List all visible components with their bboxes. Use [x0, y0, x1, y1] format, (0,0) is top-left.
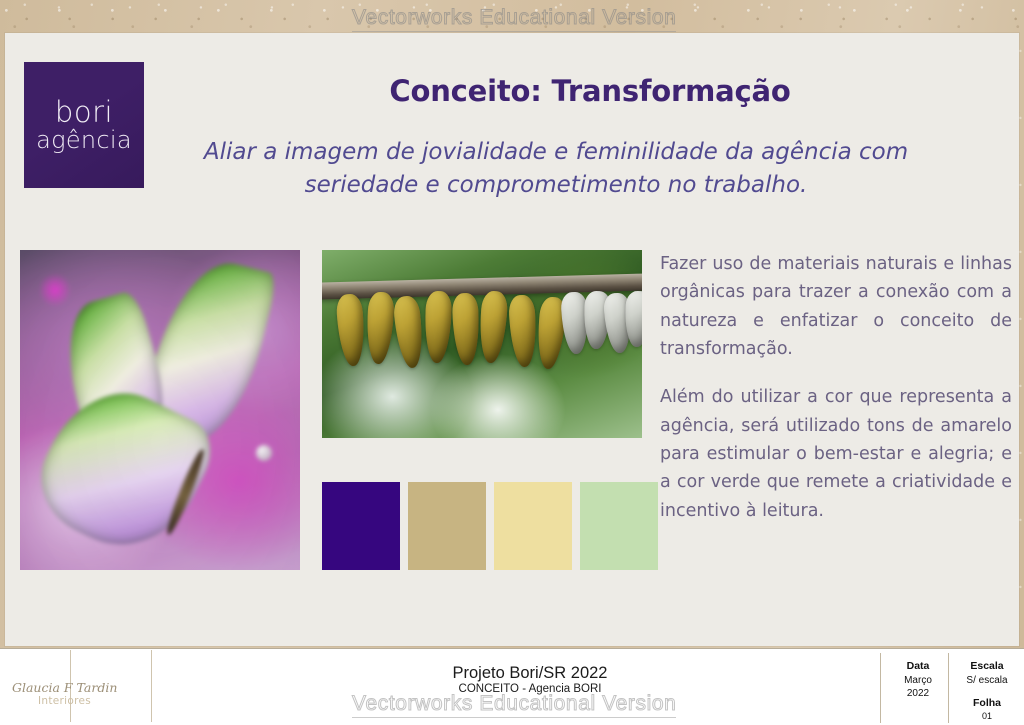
color-swatch-verde-claro: [580, 482, 658, 570]
escala-value: S/ escala: [956, 675, 1018, 688]
chrysalis: [424, 291, 452, 364]
chrysalis-photo: [322, 250, 642, 438]
chrysalis: [508, 294, 538, 367]
chrysalis: [365, 291, 395, 364]
watermark-bottom: Vectorworks Educational Version: [352, 692, 676, 718]
folha-label: Folha: [956, 697, 1018, 709]
escala-label: Escala: [956, 660, 1018, 672]
chrysalis: [478, 290, 509, 364]
data-label: Data: [890, 660, 946, 672]
page-subtitle: Aliar a imagem de jovialidade e feminili…: [150, 136, 962, 203]
chrysalis: [452, 293, 480, 366]
color-swatch-bege-natural: [408, 482, 486, 570]
folha-value: 01: [956, 711, 1018, 721]
titleblock-divider: [880, 653, 881, 723]
page-title: Conceito: Transformação: [180, 74, 1000, 108]
chrysalis: [336, 293, 367, 367]
meta-escala-column: Escala S/ escala Folha 01: [956, 660, 1018, 721]
logo-wordmark: bori: [55, 98, 113, 127]
signature-name: Glaucia F Tardin: [12, 680, 117, 695]
color-palette: [322, 482, 658, 570]
signature-role: Interiores: [38, 695, 91, 707]
concept-paragraph-1: Fazer uso de materiais naturais e linhas…: [660, 250, 1012, 363]
watermark-top: Vectorworks Educational Version: [352, 6, 676, 32]
chrysalis: [392, 295, 425, 369]
concept-paragraph-2: Além do utilizar a cor que representa a …: [660, 383, 1012, 525]
sheet-top-edge: [5, 33, 1019, 49]
butterfly-photo: [20, 250, 300, 570]
titleblock-divider: [948, 653, 949, 723]
color-swatch-roxo-bori: [322, 482, 400, 570]
bori-agencia-logo: bori agência: [24, 62, 144, 188]
logo-subtitle: agência: [36, 128, 132, 152]
meta-data-column: Data Março 2022: [890, 660, 946, 700]
project-title: Projeto Bori/SR 2022: [180, 664, 880, 683]
flower-bud: [256, 445, 272, 461]
data-value: Março 2022: [890, 675, 946, 700]
color-swatch-amarelo-claro: [494, 482, 572, 570]
concept-description: Fazer uso de materiais naturais e linhas…: [660, 250, 1012, 525]
flower-highlight: [40, 272, 70, 308]
